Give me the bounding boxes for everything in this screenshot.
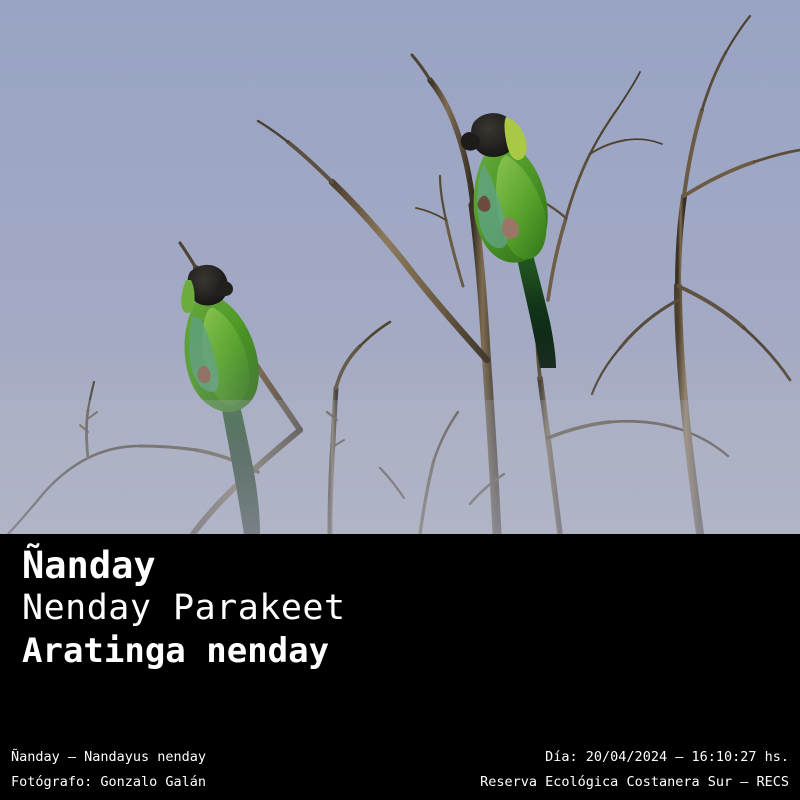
- species-titles: Ñanday Nenday Parakeet Aratinga nenday: [22, 544, 346, 672]
- footer-location-line: Reserva Ecológica Costanera Sur — RECS: [480, 770, 789, 795]
- footer-left-column: Ñanday — Nandayus nenday Fotógrafo: Gonz…: [11, 745, 206, 795]
- footer-species-line: Ñanday — Nandayus nenday: [11, 745, 206, 770]
- photo-haze: [0, 400, 800, 534]
- footer-bar: Ñanday — Nandayus nenday Fotógrafo: Gonz…: [0, 734, 800, 800]
- bird-photo-card: Ñanday Nenday Parakeet Aratinga nenday: [0, 0, 800, 800]
- footer-photographer-line: Fotógrafo: Gonzalo Galán: [11, 770, 206, 795]
- footer-right-column: Día: 20/04/2024 — 16:10:27 hs. Reserva E…: [480, 745, 789, 795]
- english-name: Nenday Parakeet: [22, 587, 346, 630]
- scientific-name: Aratinga nenday: [22, 630, 346, 672]
- photograph: [0, 0, 800, 534]
- caption-bar: Ñanday Nenday Parakeet Aratinga nenday: [0, 534, 800, 734]
- photo-scene: [0, 0, 800, 534]
- common-name: Ñanday: [22, 544, 346, 587]
- footer-date-line: Día: 20/04/2024 — 16:10:27 hs.: [480, 745, 789, 770]
